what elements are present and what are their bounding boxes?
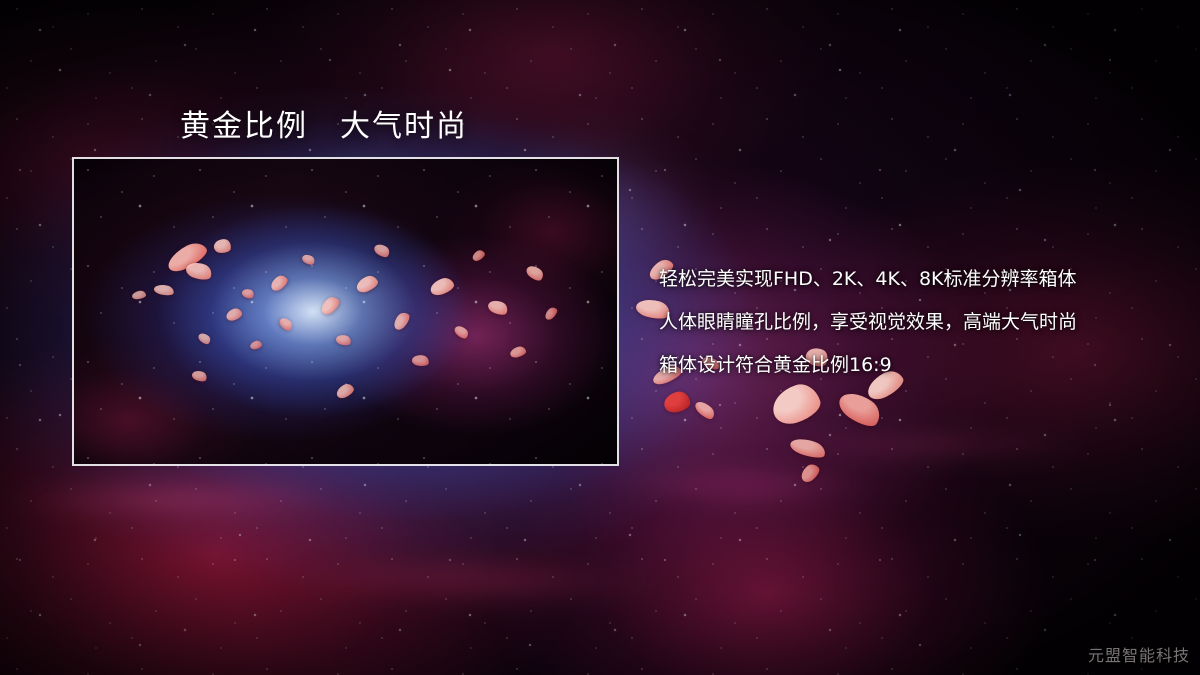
photo-frame [72, 157, 619, 466]
watermark: 元盟智能科技 [1088, 642, 1190, 666]
page-title: 黄金比例 大气时尚 [180, 101, 468, 145]
body-copy: 轻松完美实现FHD、2K、4K、8K标准分辨率箱体 人体眼睛瞳孔比例，享受视觉效… [659, 258, 1077, 387]
presentation-slide: 黄金比例 大气时尚 轻松完美实现FHD、2K、4K、8K标准分辨率箱体 人体眼睛… [0, 0, 1200, 675]
body-line-1: 轻松完美实现FHD、2K、4K、8K标准分辨率箱体 [659, 258, 1077, 301]
photo-starfield-icon [74, 159, 617, 464]
body-line-3: 箱体设计符合黄金比例16:9 [659, 344, 1077, 387]
body-line-2: 人体眼睛瞳孔比例，享受视觉效果，高端大气时尚 [659, 301, 1077, 344]
